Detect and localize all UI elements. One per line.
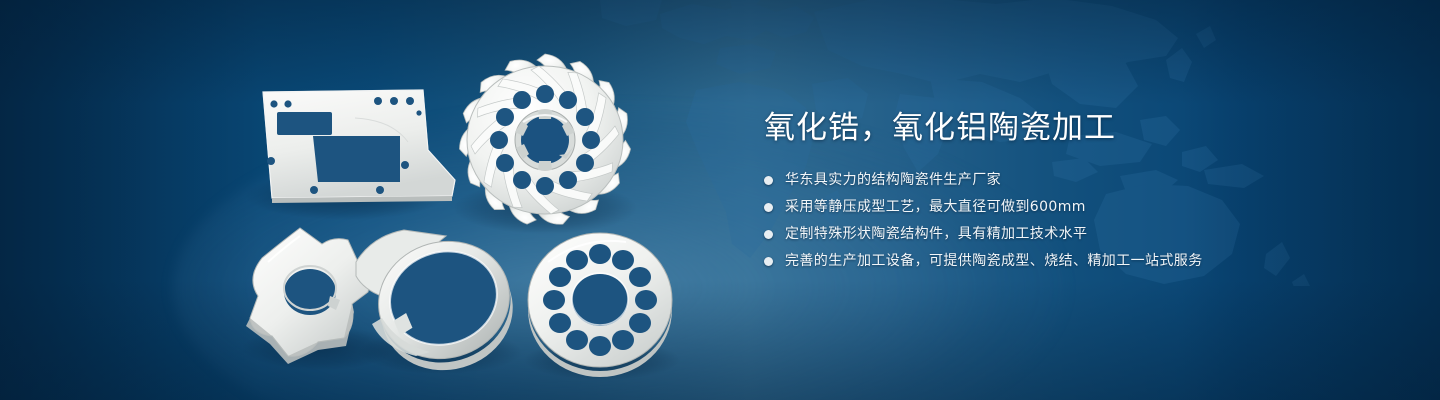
ceramic-plate xyxy=(263,90,455,203)
ceramic-perforated-disc xyxy=(528,233,672,377)
bullet-dot-icon xyxy=(764,257,773,266)
list-item: 完善的生产加工设备，可提供陶瓷成型、烧结、精加工一站式服务 xyxy=(764,251,1384,271)
list-item: 定制特殊形状陶瓷结构件，具有精加工技术水平 xyxy=(764,224,1384,244)
banner-copy: 氧化锆，氧化铝陶瓷加工 华东具实力的结构陶瓷件生产厂家 采用等静压成型工艺，最大… xyxy=(764,108,1384,278)
hero-banner: 氧化锆，氧化铝陶瓷加工 华东具实力的结构陶瓷件生产厂家 采用等静压成型工艺，最大… xyxy=(0,0,1440,400)
list-item: 华东具实力的结构陶瓷件生产厂家 xyxy=(764,170,1384,190)
feature-list: 华东具实力的结构陶瓷件生产厂家 采用等静压成型工艺，最大直径可做到600mm 定… xyxy=(764,170,1384,271)
feature-text: 定制特殊形状陶瓷结构件，具有精加工技术水平 xyxy=(785,224,1087,244)
product-image-cluster xyxy=(0,0,720,400)
feature-text: 完善的生产加工设备，可提供陶瓷成型、烧结、精加工一站式服务 xyxy=(785,251,1203,271)
bullet-dot-icon xyxy=(764,230,773,239)
list-item: 采用等静压成型工艺，最大直径可做到600mm xyxy=(764,197,1384,217)
bullet-dot-icon xyxy=(764,203,773,212)
page-title: 氧化锆，氧化铝陶瓷加工 xyxy=(764,108,1384,148)
bullet-dot-icon xyxy=(764,176,773,185)
feature-text: 华东具实力的结构陶瓷件生产厂家 xyxy=(785,170,1001,190)
feature-text: 采用等静压成型工艺，最大直径可做到600mm xyxy=(785,197,1086,217)
